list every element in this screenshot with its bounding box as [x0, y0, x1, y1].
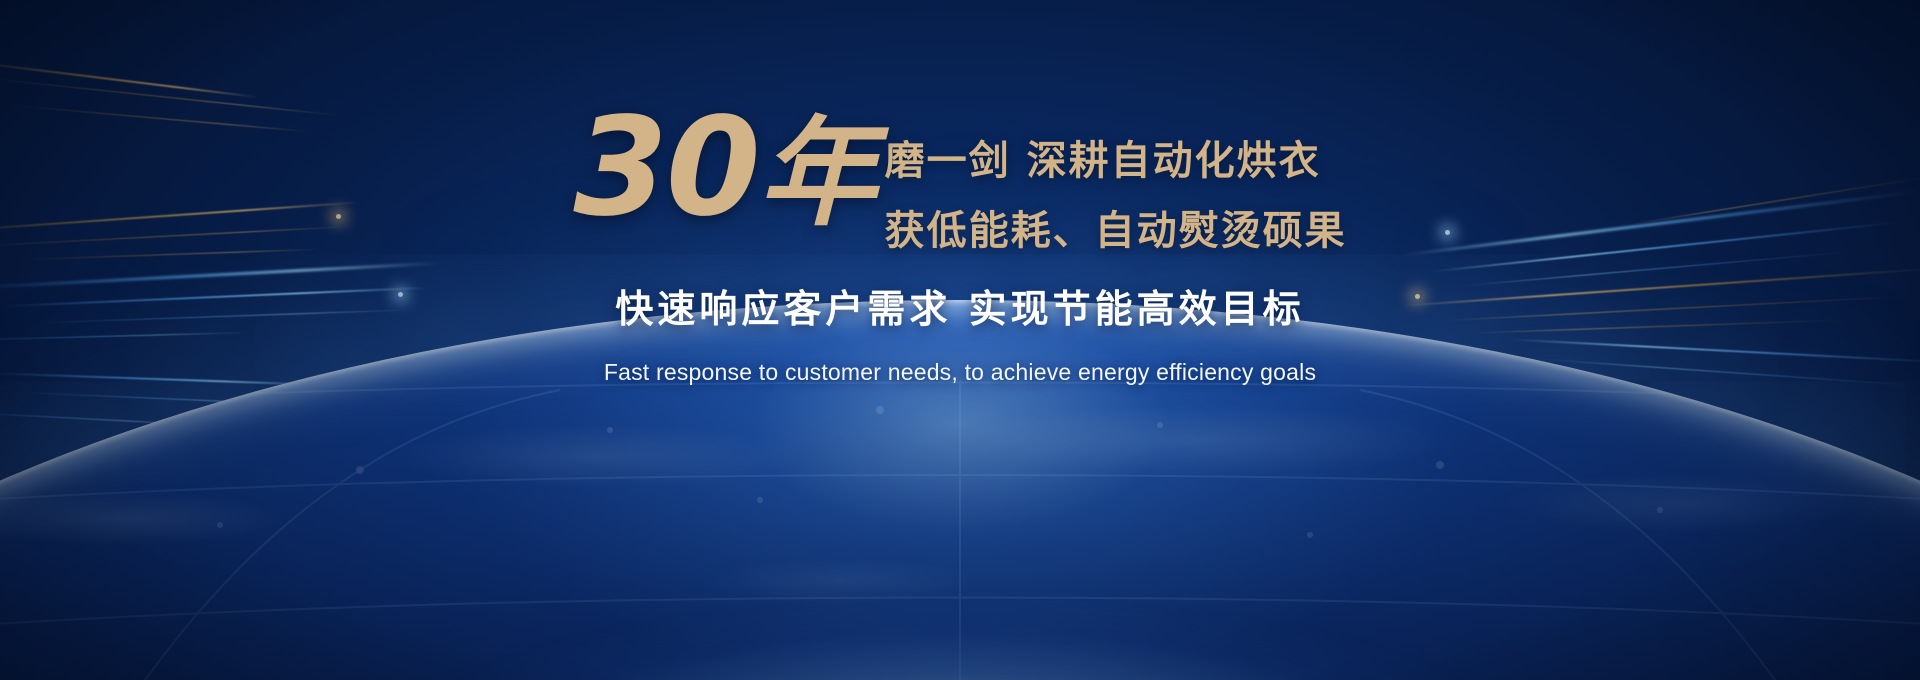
years-number: 30年 [573, 106, 876, 231]
years-number-value: 30 [573, 89, 758, 247]
hero-banner: 30年 磨一剑 深耕自动化烘衣 获低能耗、自动熨烫硕果 快速响应客户需求 实现节… [0, 0, 1920, 680]
gold-headline-line-2: 获低能耗、自动熨烫硕果 [885, 198, 1347, 256]
gold-headline-lines: 磨一剑 深耕自动化烘衣 获低能耗、自动熨烫硕果 [885, 112, 1347, 256]
years-unit-label: 年 [759, 104, 877, 242]
banner-content: 30年 磨一剑 深耕自动化烘衣 获低能耗、自动熨烫硕果 快速响应客户需求 实现节… [0, 0, 1920, 680]
gold-headline-line-1: 磨一剑 深耕自动化烘衣 [885, 128, 1347, 186]
english-subtitle: Fast response to customer needs, to achi… [604, 359, 1316, 386]
headline-row: 30年 磨一剑 深耕自动化烘衣 获低能耗、自动熨烫硕果 [0, 112, 1920, 256]
white-headline: 快速响应客户需求 实现节能高效目标 [615, 278, 1304, 333]
